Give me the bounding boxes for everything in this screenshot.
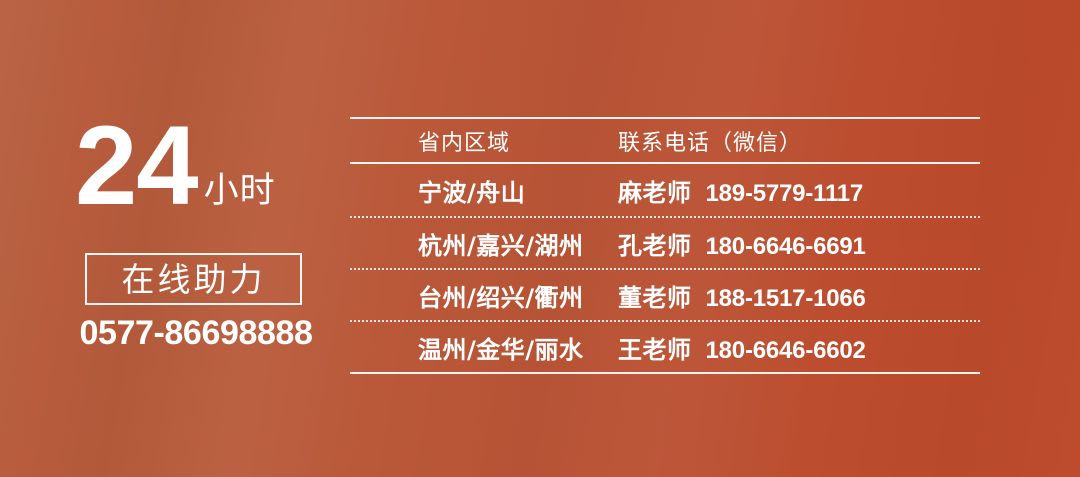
table-row: 宁波/舟山 麻老师 189-5779-1117 xyxy=(350,164,980,216)
row-contact: 麻老师 189-5779-1117 xyxy=(615,173,980,208)
promo-block: 24 小时 在线助力 0577-86698888 xyxy=(60,120,330,360)
table-row: 台州/绍兴/衢州 董老师 188-1517-1066 xyxy=(350,268,980,320)
promo-banner: 24 小时 在线助力 0577-86698888 省内区域 联系电话（微信） 宁… xyxy=(0,0,1080,477)
row-contact: 董老师 188-1517-1066 xyxy=(615,278,980,313)
row-region: 杭州/嘉兴/湖州 xyxy=(350,226,615,261)
row-teacher-name: 麻老师 xyxy=(618,173,692,208)
hours-headline: 24 小时 xyxy=(75,120,276,212)
row-region: 宁波/舟山 xyxy=(350,173,615,208)
row-region: 台州/绍兴/衢州 xyxy=(350,278,615,313)
row-contact: 孔老师 180-6646-6691 xyxy=(615,226,980,261)
row-teacher-name: 孔老师 xyxy=(618,226,692,261)
table-row: 温州/金华/丽水 王老师 180-6646-6602 xyxy=(350,320,980,372)
row-teacher-name: 王老师 xyxy=(618,330,692,365)
row-teacher-phone[interactable]: 189-5779-1117 xyxy=(706,180,864,208)
row-teacher-name: 董老师 xyxy=(618,278,692,313)
row-contact: 王老师 180-6646-6602 xyxy=(615,330,980,365)
table-header-row: 省内区域 联系电话（微信） xyxy=(350,119,980,164)
hours-unit-label: 小时 xyxy=(204,174,276,209)
row-teacher-phone[interactable]: 188-1517-1066 xyxy=(706,285,866,313)
header-contact: 联系电话（微信） xyxy=(618,125,802,157)
hours-number: 24 xyxy=(75,120,198,212)
row-teacher-phone[interactable]: 180-6646-6602 xyxy=(706,337,866,365)
row-region: 温州/金华/丽水 xyxy=(350,330,615,365)
landline-phone-number[interactable]: 0577-86698888 xyxy=(78,316,314,350)
online-support-label: 在线助力 xyxy=(122,263,266,296)
table-row: 杭州/嘉兴/湖州 孔老师 180-6646-6691 xyxy=(350,216,980,268)
contact-table: 省内区域 联系电话（微信） 宁波/舟山 麻老师 189-5779-1117 杭州… xyxy=(350,117,980,374)
header-region: 省内区域 xyxy=(350,125,615,157)
row-teacher-phone[interactable]: 180-6646-6691 xyxy=(706,233,866,261)
online-support-badge: 在线助力 xyxy=(85,253,302,305)
